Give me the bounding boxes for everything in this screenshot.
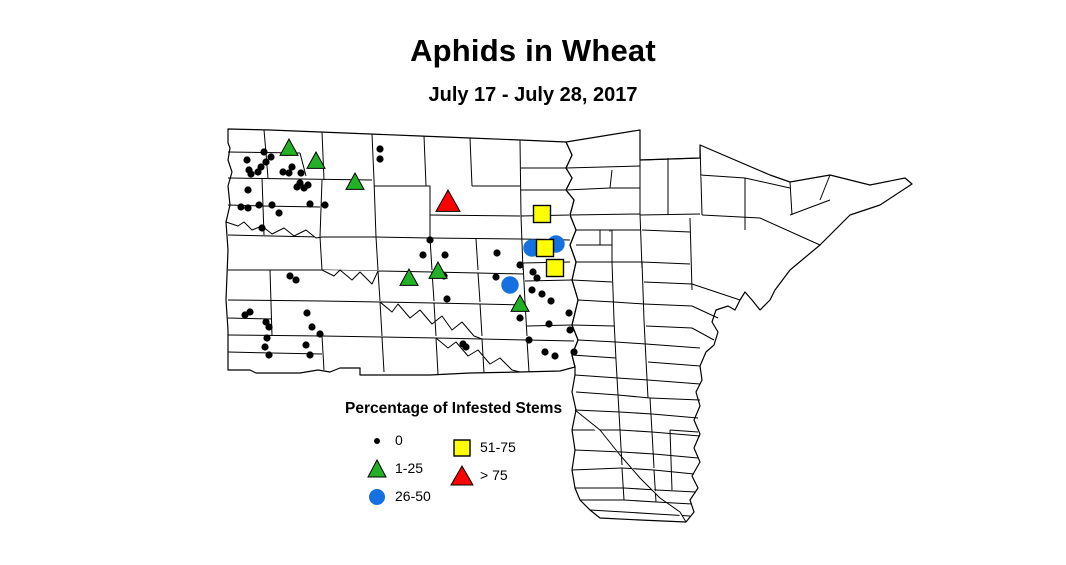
map-point-zero[interactable]	[376, 155, 383, 162]
map-point-zero[interactable]	[306, 200, 313, 207]
legend-symbol-51-75	[450, 437, 474, 459]
map-point-zero[interactable]	[551, 352, 558, 359]
map-point-zero[interactable]	[376, 145, 383, 152]
map-point-zero[interactable]	[265, 323, 272, 330]
minnesota-counties	[566, 130, 912, 522]
map-point-zero[interactable]	[244, 204, 251, 211]
legend-symbol-svg	[365, 486, 389, 508]
legend-label-0: 0	[395, 432, 403, 448]
map-point-zero[interactable]	[419, 251, 426, 258]
map-point-zero[interactable]	[316, 330, 323, 337]
map-point-51-75[interactable]	[537, 240, 554, 257]
circle-blue-icon	[369, 489, 385, 505]
map-point-1-25[interactable]	[346, 173, 364, 189]
map-point-26-50[interactable]	[502, 277, 519, 294]
map-point-zero[interactable]	[308, 323, 315, 330]
map-point-zero[interactable]	[265, 351, 272, 358]
map-point-zero[interactable]	[538, 290, 545, 297]
map-point-1-25[interactable]	[280, 139, 298, 155]
map-point-zero[interactable]	[541, 348, 548, 355]
legend-symbol-0	[365, 430, 389, 452]
legend-symbol-svg	[450, 437, 474, 459]
map-point-zero[interactable]	[306, 351, 313, 358]
map-point-zero[interactable]	[462, 343, 469, 350]
triangle-green-icon	[368, 460, 386, 477]
map-point-zero[interactable]	[246, 308, 253, 315]
map-point-zero[interactable]	[547, 297, 554, 304]
map-point-zero[interactable]	[275, 209, 282, 216]
legend-title: Percentage of Infested Stems	[345, 400, 562, 418]
map-point-zero[interactable]	[286, 272, 293, 279]
map-point-over-75[interactable]	[436, 190, 460, 211]
legend: Percentage of Infested Stems 01-2526-505…	[345, 400, 595, 520]
map-point-zero[interactable]	[529, 268, 536, 275]
map-point-51-75[interactable]	[534, 206, 551, 223]
map-point-1-25[interactable]	[307, 152, 325, 168]
map-point-zero[interactable]	[237, 203, 244, 210]
map-point-zero[interactable]	[297, 169, 304, 176]
map-point-zero[interactable]	[565, 309, 572, 316]
triangle-red-icon	[451, 466, 473, 485]
map-point-zero[interactable]	[303, 309, 310, 316]
map-point-zero[interactable]	[255, 201, 262, 208]
map-point-zero[interactable]	[545, 320, 552, 327]
map-point-zero[interactable]	[244, 186, 251, 193]
legend-label-51-75: 51-75	[480, 439, 516, 455]
legend-symbol-1-25	[365, 458, 389, 480]
map-point-zero[interactable]	[247, 170, 254, 177]
map-point-zero[interactable]	[570, 348, 577, 355]
map-point-zero[interactable]	[243, 156, 250, 163]
map-point-zero[interactable]	[493, 249, 500, 256]
map-point-zero[interactable]	[258, 224, 265, 231]
legend-label--75: > 75	[480, 467, 508, 483]
map-point-zero[interactable]	[492, 273, 499, 280]
legend-symbol-svg	[450, 465, 474, 487]
legend-label-26-50: 26-50	[395, 488, 431, 504]
map-point-zero[interactable]	[302, 341, 309, 348]
legend-symbol-26-50	[365, 486, 389, 508]
map-point-zero[interactable]	[267, 153, 274, 160]
map-point-zero[interactable]	[525, 336, 532, 343]
map-point-zero[interactable]	[516, 261, 523, 268]
map-point-zero[interactable]	[528, 286, 535, 293]
legend-symbol-svg	[365, 430, 389, 452]
map-point-zero[interactable]	[263, 334, 270, 341]
map-point-zero[interactable]	[261, 343, 268, 350]
map-point-1-25[interactable]	[511, 295, 529, 311]
legend-symbol--75	[450, 465, 474, 487]
map-point-zero[interactable]	[279, 168, 286, 175]
dot-icon	[374, 438, 380, 444]
map-point-zero[interactable]	[292, 276, 299, 283]
map-point-zero[interactable]	[254, 168, 261, 175]
map-point-zero[interactable]	[441, 251, 448, 258]
map-point-zero[interactable]	[566, 326, 573, 333]
map-point-zero[interactable]	[443, 295, 450, 302]
legend-label-1-25: 1-25	[395, 460, 423, 476]
map-point-zero[interactable]	[533, 274, 540, 281]
map-point-zero[interactable]	[260, 148, 267, 155]
map-point-zero[interactable]	[304, 181, 311, 188]
map-point-zero[interactable]	[321, 201, 328, 208]
map-point-zero[interactable]	[516, 314, 523, 321]
map-point-zero[interactable]	[268, 201, 275, 208]
legend-symbol-svg	[365, 458, 389, 480]
map-point-zero[interactable]	[285, 169, 292, 176]
map-point-51-75[interactable]	[547, 260, 564, 277]
square-yellow-icon	[454, 440, 470, 456]
map-point-zero[interactable]	[426, 236, 433, 243]
